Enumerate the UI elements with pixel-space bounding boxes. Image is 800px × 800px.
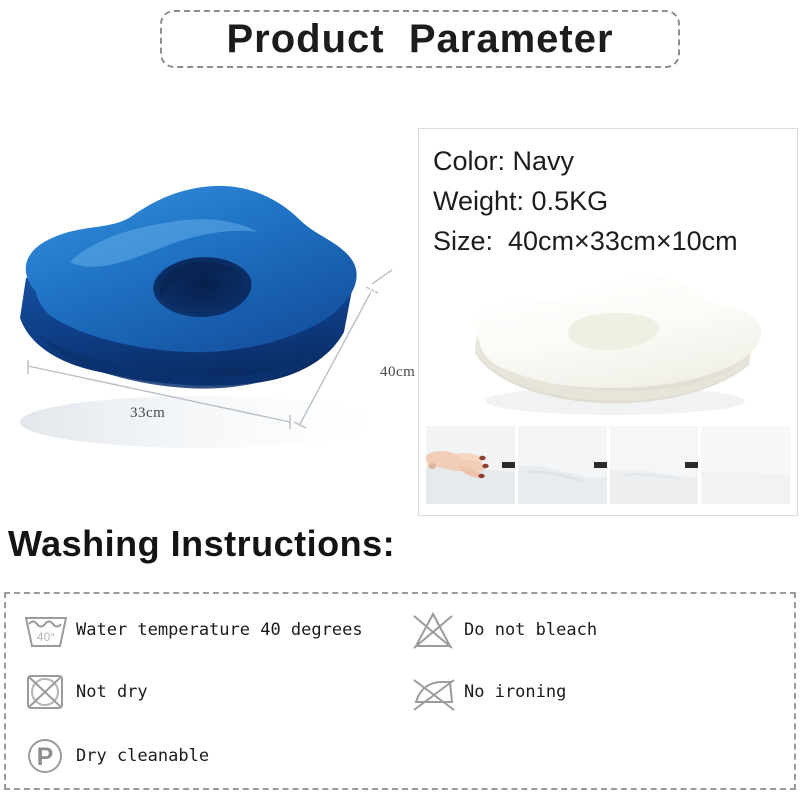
care-row-no-ironing: No ironing bbox=[400, 664, 566, 720]
care-row-water-temperature: 40° Water temperature 40 degrees bbox=[6, 602, 363, 658]
arrow-right-icon bbox=[685, 458, 698, 472]
rebound-demo-strip bbox=[426, 426, 790, 504]
spec-text-block: Color: Navy Weight: 0.5KG Size: 40cm×33c… bbox=[433, 141, 793, 261]
care-label-dry-cleanable: Dry cleanable bbox=[76, 746, 209, 766]
no-tumble-dry-glyph bbox=[20, 668, 72, 716]
care-row-not-dry: Not dry bbox=[6, 664, 148, 720]
foam-illustration bbox=[419, 261, 797, 429]
rebound-arrow-3 bbox=[685, 458, 698, 472]
do-not-bleach-glyph bbox=[408, 606, 460, 654]
cushion-illustration bbox=[0, 150, 420, 480]
cushion-shadow bbox=[20, 396, 380, 448]
dry-clean-p-icon: P bbox=[20, 732, 72, 780]
washing-left-column: 40° Water temperature 40 degrees Not dry bbox=[6, 594, 400, 788]
product-photo-navy-cushion bbox=[0, 150, 420, 480]
care-label-water-temperature: Water temperature 40 degrees bbox=[76, 620, 363, 640]
page-title-box: Product Parameter bbox=[160, 10, 680, 68]
do-not-bleach-icon bbox=[408, 606, 460, 654]
rebound-frame-4 bbox=[701, 426, 790, 504]
arrow-right-icon bbox=[594, 458, 607, 472]
care-label-no-ironing: No ironing bbox=[464, 682, 566, 702]
wash-tub-40-icon: 40° bbox=[20, 606, 72, 654]
wash-tub-temperature-text: 40° bbox=[37, 630, 55, 644]
spec-line-color: Color: Navy bbox=[433, 141, 793, 181]
care-row-do-not-bleach: Do not bleach bbox=[400, 602, 597, 658]
spec-line-size: Size: 40cm×33cm×10cm bbox=[433, 221, 793, 261]
rebound-frame-3 bbox=[610, 426, 699, 504]
washing-instructions-panel: 40° Water temperature 40 degrees Not dry bbox=[4, 592, 796, 790]
no-ironing-icon bbox=[408, 668, 460, 716]
dry-clean-letter: P bbox=[37, 743, 54, 771]
wash-tub-40-glyph: 40° bbox=[20, 606, 72, 654]
washing-instructions-heading: Washing Instructions: bbox=[8, 523, 395, 565]
page-title: Product Parameter bbox=[226, 17, 613, 62]
arrow-right-icon bbox=[502, 458, 515, 472]
rebound-frame-2 bbox=[518, 426, 607, 504]
dry-clean-p-glyph: P bbox=[20, 732, 72, 780]
care-row-dry-cleanable: P Dry cleanable bbox=[6, 728, 209, 784]
care-label-not-dry: Not dry bbox=[76, 682, 148, 702]
foam-core-photo bbox=[419, 261, 797, 429]
rebound-arrow-2 bbox=[594, 458, 607, 472]
rebound-frame-1 bbox=[426, 426, 515, 504]
rebound-arrow-1 bbox=[502, 458, 515, 472]
washing-right-column: Do not bleach No ironing bbox=[400, 594, 794, 788]
no-tumble-dry-icon bbox=[20, 668, 72, 716]
spec-panel: Color: Navy Weight: 0.5KG Size: 40cm×33c… bbox=[418, 128, 798, 516]
foam-fully-recovered-illustration bbox=[701, 426, 790, 504]
no-ironing-glyph bbox=[408, 668, 460, 716]
dimension-label-width: 33cm bbox=[130, 405, 165, 422]
dimension-label-height: 10cm bbox=[362, 282, 395, 298]
care-label-do-not-bleach: Do not bleach bbox=[464, 620, 597, 640]
spec-line-weight: Weight: 0.5KG bbox=[433, 181, 793, 221]
dimension-label-depth: 40cm bbox=[380, 364, 415, 381]
